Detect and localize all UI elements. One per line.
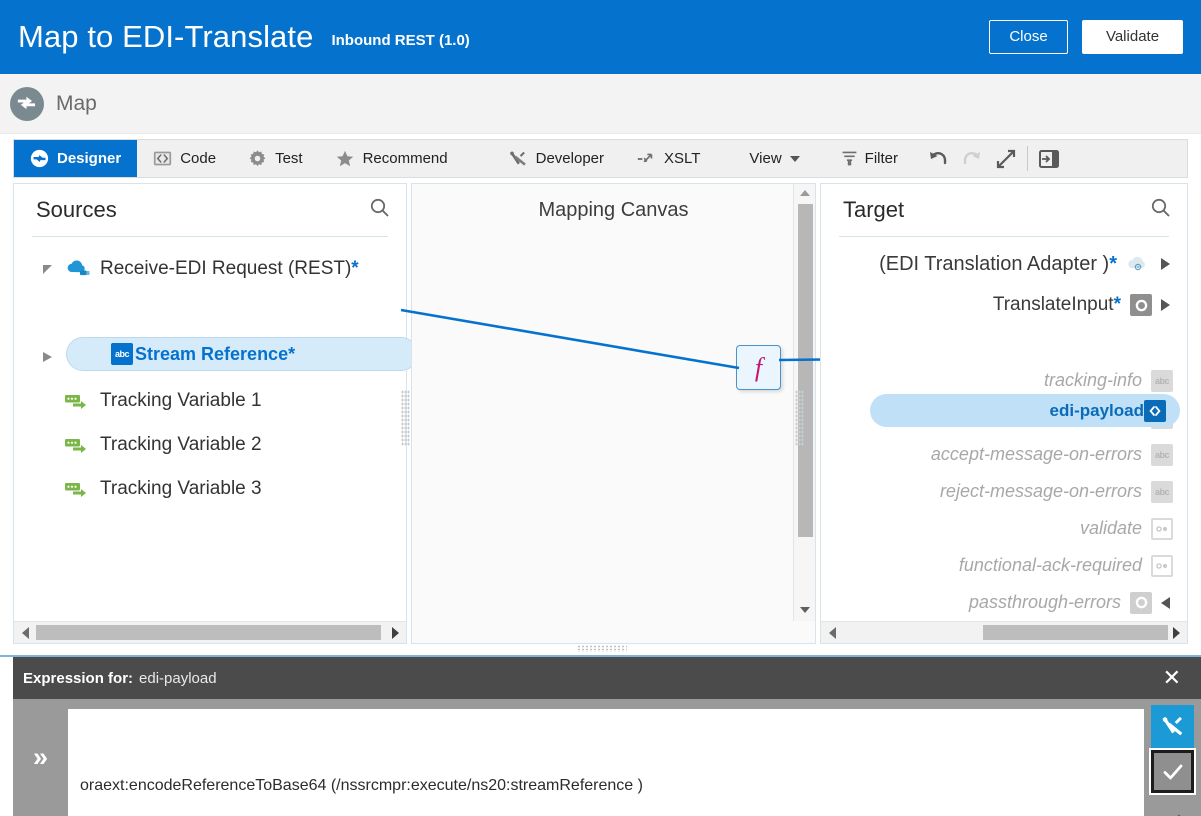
map-icon <box>30 149 49 168</box>
tree-item-stream-reference[interactable]: abc Stream Reference* <box>66 337 418 371</box>
pill-row-spacer <box>14 291 406 335</box>
filter-label: Filter <box>865 150 898 167</box>
tab-recommend[interactable]: Recommend <box>319 140 464 177</box>
page-subtitle: Inbound REST (1.0) <box>331 25 469 49</box>
tree-item-edi-payload[interactable]: edi-payload <box>870 394 1180 427</box>
tree-item-label: Tracking Variable 2 <box>100 434 262 456</box>
hscroll-thumb[interactable] <box>36 625 381 640</box>
view-menu[interactable]: View <box>738 140 810 177</box>
sources-hscrollbar[interactable] <box>14 621 406 643</box>
tab-developer-label: Developer <box>536 150 604 167</box>
tree-item-label: functional-ack-required <box>959 555 1142 576</box>
hscroll-track[interactable] <box>36 625 384 640</box>
map-icon <box>10 87 44 121</box>
scroll-left-arrow[interactable] <box>821 627 843 639</box>
tree-item-label: Tracking Variable 1 <box>100 390 262 412</box>
abc-icon: abc <box>111 343 133 365</box>
twisty-right-icon[interactable] <box>38 352 56 362</box>
map-editor-window: Map to EDI-Translate Inbound REST (1.0) … <box>0 0 1201 816</box>
tab-designer[interactable]: Designer <box>14 140 137 177</box>
function-node-glyph: f <box>755 353 762 383</box>
search-icon[interactable] <box>1149 196 1173 225</box>
tools-icon <box>1160 714 1185 739</box>
tab-code[interactable]: Code <box>137 140 232 177</box>
mapping-canvas-panel: Mapping Canvas <box>411 183 816 644</box>
tree-item-reject-message-on-errors[interactable]: reject-message-on-errors abc <box>821 473 1187 510</box>
scroll-down-arrow[interactable] <box>794 601 816 619</box>
canvas-title: Mapping Canvas <box>412 184 815 222</box>
accept-expression-button[interactable] <box>1151 750 1194 793</box>
validate-button[interactable]: Validate <box>1082 20 1183 54</box>
function-tools-button[interactable] <box>1151 705 1194 748</box>
required-marker: * <box>1109 253 1117 276</box>
code-icon <box>1144 400 1166 422</box>
target-panel: Target (EDI Translation Adapter )* <box>820 183 1188 644</box>
expand-arrows-icon <box>995 148 1017 170</box>
tab-test[interactable]: Test <box>232 140 319 177</box>
view-menu-label: View <box>749 150 781 167</box>
abc-icon: abc <box>1151 481 1173 503</box>
tree-item-tracking-variable-1[interactable]: Tracking Variable 1 <box>14 379 406 423</box>
scroll-right-arrow[interactable] <box>1165 627 1187 639</box>
tab-recommend-label: Recommend <box>363 150 448 167</box>
tree-item-label: passthrough-errors <box>969 592 1121 613</box>
tree-item-label: Receive-EDI Request (REST) <box>100 258 351 280</box>
tree-item-label: tracking-info <box>1044 370 1142 391</box>
collapse-arrow-icon[interactable] <box>1161 597 1173 609</box>
canvas-target-splitter[interactable] <box>795 390 804 446</box>
tree-item-receive-edi-request[interactable]: Receive-EDI Request (REST)* <box>14 247 406 291</box>
edit-expression-button[interactable] <box>1151 799 1194 816</box>
tab-test-label: Test <box>275 150 303 167</box>
tools-icon <box>508 149 528 169</box>
breadcrumb-label: Map <box>56 92 97 116</box>
expression-editor: Expression for: edi-payload ✕ » <box>0 655 1201 816</box>
tree-item-label: (EDI Translation Adapter ) <box>879 253 1109 276</box>
tracking-icon <box>64 435 91 455</box>
tree-item-accept-message-on-errors[interactable]: accept-message-on-errors abc <box>821 436 1187 473</box>
expression-body: » <box>13 699 1201 816</box>
scroll-right-arrow[interactable] <box>384 627 406 639</box>
tree-item-label: accept-message-on-errors <box>931 444 1142 465</box>
required-marker: * <box>351 258 358 280</box>
redo-button[interactable] <box>955 140 989 177</box>
expand-arrow-icon[interactable] <box>1161 299 1173 311</box>
required-marker: * <box>288 344 295 365</box>
tab-developer[interactable]: Developer <box>492 140 620 177</box>
canvas-bottom-splitter[interactable] <box>577 645 627 652</box>
breadcrumb: Map <box>0 74 1201 134</box>
chevron-down-icon <box>790 156 800 162</box>
tracking-icon <box>64 479 91 499</box>
tab-xslt-label: XSLT <box>664 150 700 167</box>
tree-item-label: reject-message-on-errors <box>940 481 1142 502</box>
grey-circle-icon <box>1130 592 1152 614</box>
pencil-icon <box>1160 808 1186 816</box>
abc-icon: abc <box>1151 444 1173 466</box>
vscroll-thumb[interactable] <box>798 204 813 537</box>
tree-item-label: TranslateInput <box>993 294 1114 316</box>
filter-icon <box>840 149 859 168</box>
expand-button[interactable] <box>989 140 1023 177</box>
gear-icon <box>248 149 267 168</box>
check-icon <box>1160 759 1186 785</box>
target-header: Target <box>821 184 1187 236</box>
panel-right-icon <box>1038 148 1060 170</box>
xslt-icon <box>636 149 656 169</box>
double-chevron-right-icon[interactable]: » <box>13 699 68 816</box>
panel-toggle-button[interactable] <box>1032 140 1066 177</box>
sources-title: Sources <box>36 197 117 223</box>
hscroll-track[interactable] <box>843 625 1165 640</box>
code-icon <box>153 149 172 168</box>
page-title: Map to EDI-Translate <box>18 19 313 55</box>
twisty-down-icon[interactable] <box>38 265 56 274</box>
tree-item-validate[interactable]: validate <box>821 510 1187 547</box>
scroll-left-arrow[interactable] <box>14 627 36 639</box>
tree-item-label: validate <box>1080 518 1142 539</box>
expression-actions <box>1144 699 1201 816</box>
window-header: Map to EDI-Translate Inbound REST (1.0) … <box>0 0 1201 74</box>
close-button[interactable]: Close <box>989 20 1068 54</box>
expand-arrow-icon[interactable] <box>1161 258 1173 270</box>
pill-row-spacer <box>821 325 1187 362</box>
target-tree: (EDI Translation Adapter )* TranslateInp… <box>821 237 1187 621</box>
tree-item-functional-ack-required[interactable]: functional-ack-required <box>821 547 1187 584</box>
abc-icon: abc <box>1151 370 1173 392</box>
expression-title-target: edi-payload <box>139 670 217 687</box>
target-hscrollbar[interactable] <box>821 621 1187 643</box>
close-icon[interactable]: ✕ <box>1157 667 1187 689</box>
sources-panel: Sources <box>13 183 407 644</box>
cloud-icon <box>1126 254 1152 274</box>
tree-item-tracking-variable-2[interactable]: Tracking Variable 2 <box>14 423 406 467</box>
redo-icon <box>961 148 983 170</box>
tab-designer-label: Designer <box>57 150 121 167</box>
sources-canvas-splitter[interactable] <box>401 390 410 446</box>
tree-item-label: Tracking Variable 3 <box>100 478 262 500</box>
search-icon[interactable] <box>368 196 392 225</box>
filter-button[interactable]: Filter <box>829 140 909 177</box>
tree-item-passthrough-errors[interactable]: passthrough-errors <box>821 584 1187 621</box>
undo-icon <box>927 148 949 170</box>
editor-toolbar: Designer Code Test Recommend <box>13 139 1188 178</box>
function-node[interactable]: f <box>736 345 781 390</box>
tab-code-label: Code <box>180 150 216 167</box>
sources-tree: Receive-EDI Request (REST)* abc Stream R… <box>14 237 406 511</box>
cloud-connector-icon <box>64 258 91 280</box>
grey-circle-icon <box>1130 294 1152 316</box>
scroll-up-arrow[interactable] <box>794 184 815 202</box>
boolean-icon <box>1151 555 1173 577</box>
undo-button[interactable] <box>921 140 955 177</box>
required-marker: * <box>1114 294 1121 316</box>
tree-item-translate-input[interactable]: TranslateInput* <box>821 285 1187 325</box>
tree-item-edi-translation-adapter[interactable]: (EDI Translation Adapter )* <box>821 243 1187 285</box>
expression-header: Expression for: edi-payload ✕ <box>13 657 1201 699</box>
sources-header: Sources <box>14 184 406 236</box>
toolbar-divider <box>1027 146 1028 171</box>
tree-item-label: edi-payload <box>1050 401 1144 421</box>
boolean-icon <box>1151 518 1173 540</box>
hscroll-thumb[interactable] <box>983 625 1168 640</box>
tab-xslt[interactable]: XSLT <box>620 140 716 177</box>
tracking-icon <box>64 391 91 411</box>
tree-item-label: Stream Reference <box>135 344 288 365</box>
expression-input[interactable] <box>68 709 1144 816</box>
tree-item-tracking-variable-3[interactable]: Tracking Variable 3 <box>14 467 406 511</box>
star-icon <box>335 149 355 169</box>
target-title: Target <box>843 197 904 223</box>
expression-title-prefix: Expression for: <box>23 670 133 687</box>
